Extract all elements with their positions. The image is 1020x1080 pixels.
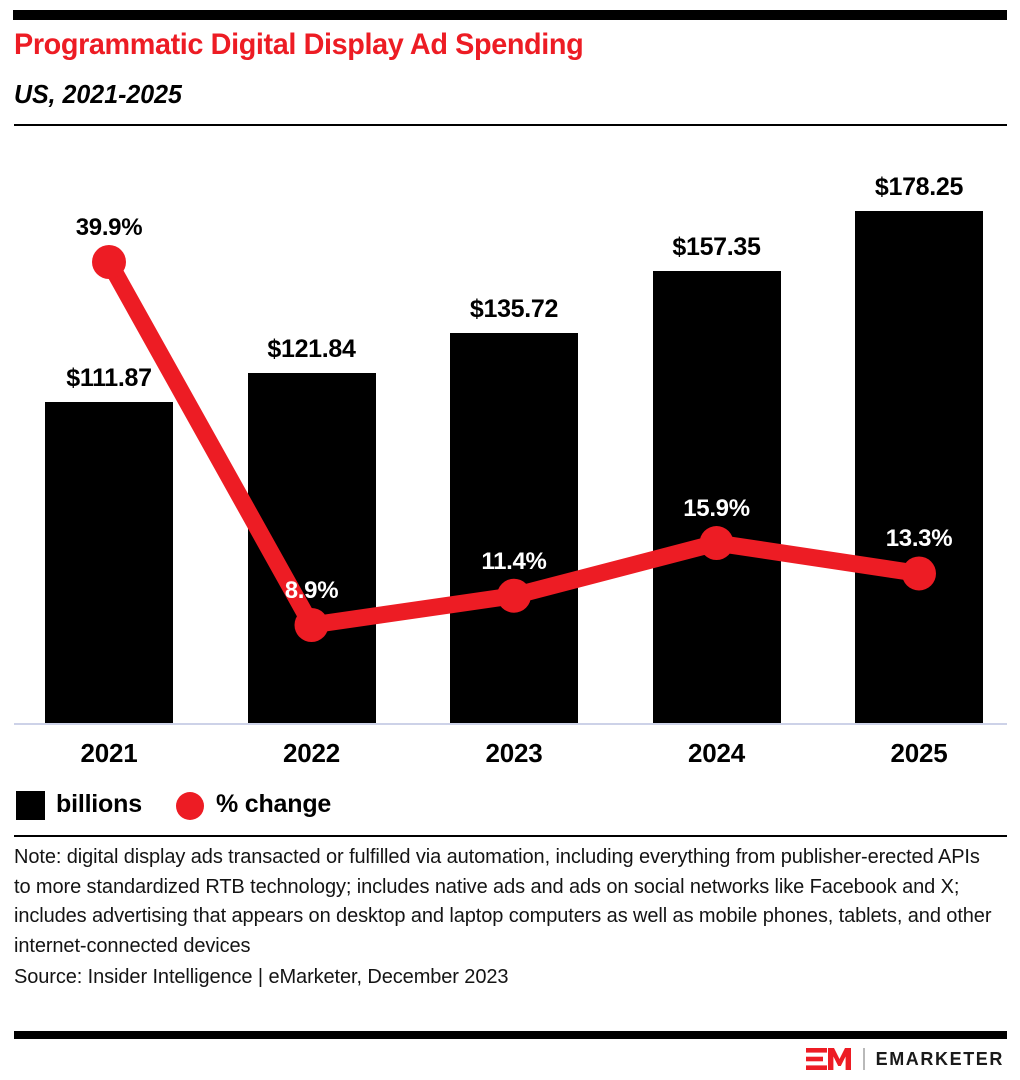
percent-change-label-2022: 8.9% <box>202 577 422 605</box>
percent-change-label-2025: 13.3% <box>809 525 1020 553</box>
page-title: Programmatic Digital Display Ad Spending <box>14 27 583 63</box>
bar-value-label-2021: $111.87 <box>0 364 219 393</box>
source-text: Source: Insider Intelligence | eMarketer… <box>14 963 999 993</box>
page-subtitle: US, 2021-2025 <box>14 78 182 110</box>
percent-change-label-2024: 15.9% <box>607 495 827 523</box>
bar-2021 <box>45 402 173 723</box>
logo-divider <box>863 1048 865 1070</box>
bar-value-label-2025: $178.25 <box>809 173 1020 202</box>
x-tick-2022: 2022 <box>232 738 392 769</box>
x-tick-2024: 2024 <box>637 738 797 769</box>
bar-value-label-2022: $121.84 <box>202 335 422 364</box>
x-tick-2023: 2023 <box>434 738 594 769</box>
bar-2023 <box>450 333 578 723</box>
bar-value-label-2024: $157.35 <box>607 233 827 262</box>
percent-change-dot-2021 <box>92 245 126 279</box>
legend-label-billions: billions <box>56 790 142 819</box>
percent-change-label-2023: 11.4% <box>404 548 624 576</box>
percent-change-label-2021: 39.9% <box>0 214 219 242</box>
x-tick-2021: 2021 <box>29 738 189 769</box>
emarketer-logo: EMARKETER <box>806 1046 1004 1072</box>
bar-value-label-2023: $135.72 <box>404 295 624 324</box>
x-axis-line <box>14 723 1007 725</box>
footer-rule <box>14 1031 1007 1039</box>
brand-wordmark: EMARKETER <box>876 1049 1004 1070</box>
chart-page: Programmatic Digital Display Ad Spending… <box>0 0 1020 1080</box>
legend-swatch-percent-change <box>176 792 204 820</box>
legend-label-percent-change: % change <box>216 790 331 819</box>
em-monogram-icon <box>806 1047 852 1071</box>
bar-2025 <box>855 211 983 723</box>
header-divider <box>14 124 1007 126</box>
note-text: Note: digital display ads transacted or … <box>14 843 999 961</box>
legend-divider <box>14 835 1007 837</box>
bar-2022 <box>248 373 376 723</box>
x-tick-2025: 2025 <box>839 738 999 769</box>
legend-swatch-billions <box>16 791 45 820</box>
chart-plot-area: $111.8739.9%$121.848.9%$135.7211.4%$157.… <box>0 140 1020 730</box>
top-rule <box>13 10 1007 20</box>
notes-block: Note: digital display ads transacted or … <box>14 843 999 993</box>
